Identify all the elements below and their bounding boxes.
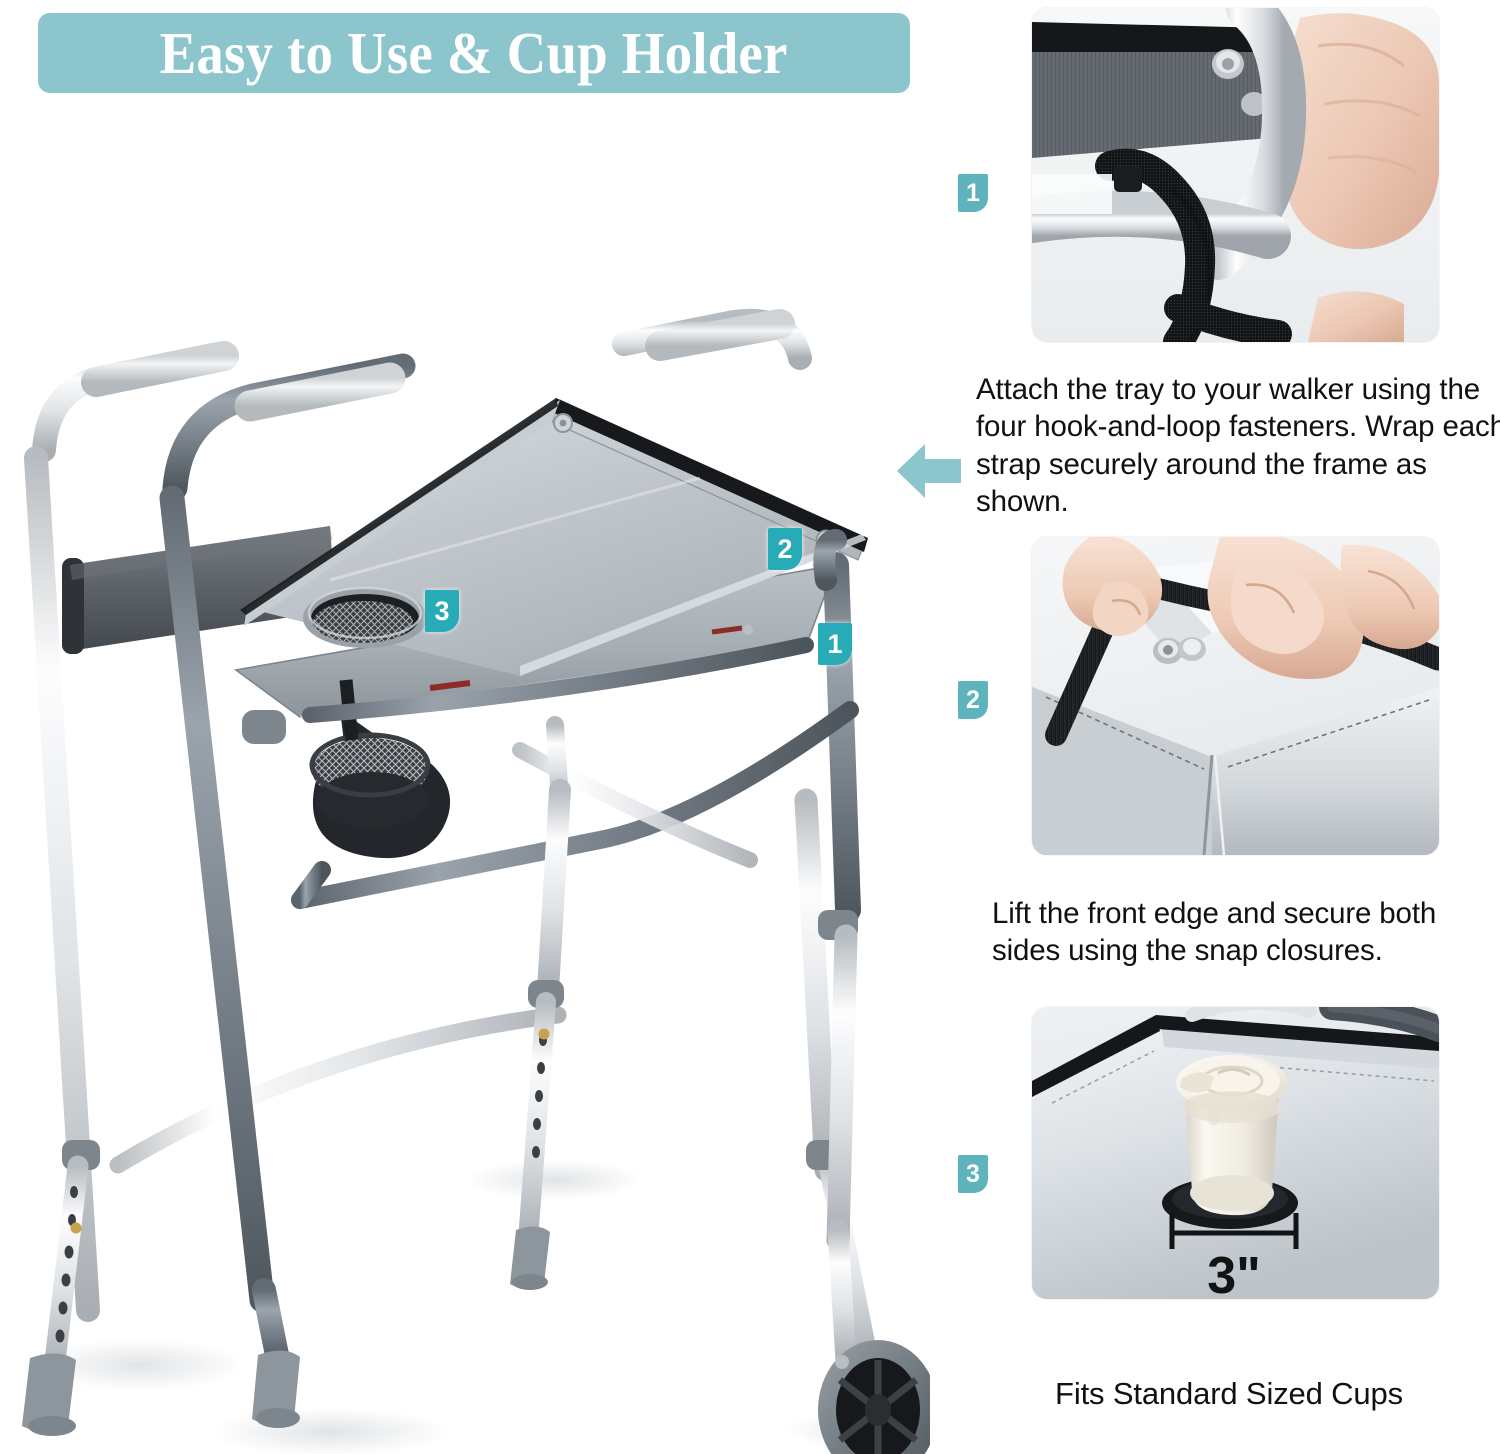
step-badge-3: 3: [958, 1155, 988, 1193]
page-title: Easy to Use & Cup Holder: [160, 24, 788, 83]
step-1-photo: [1032, 8, 1439, 342]
step-1-caption: Attach the tray to your walker using the…: [976, 371, 1500, 520]
title-banner: Easy to Use & Cup Holder: [38, 13, 910, 93]
step-number: 1: [966, 181, 980, 206]
step-3-caption: Fits Standard Sized Cups: [994, 1374, 1464, 1413]
step-badge-2: 2: [958, 681, 988, 719]
callout-number: 1: [827, 631, 842, 658]
step-number: 3: [966, 1162, 980, 1187]
hero-callout-1: 1: [818, 623, 852, 665]
step-2-photo: [1032, 537, 1439, 855]
hero-callout-2: 2: [768, 528, 802, 570]
cup-diameter-label: 3": [1207, 1247, 1261, 1299]
step-2-caption: Lift the front edge and secure both side…: [992, 895, 1500, 970]
callout-number: 3: [434, 598, 449, 625]
step-3-photo: 3": [1032, 1007, 1439, 1299]
callout-number: 2: [777, 536, 792, 563]
steps-column: 1: [930, 0, 1500, 1454]
hero-product-image: 1 2 3: [0, 110, 930, 1454]
step-number: 2: [966, 688, 980, 713]
step-badge-1: 1: [958, 174, 988, 212]
hero-callout-3: 3: [425, 590, 459, 632]
infographic-page: Easy to Use & Cup Holder: [0, 0, 1500, 1454]
